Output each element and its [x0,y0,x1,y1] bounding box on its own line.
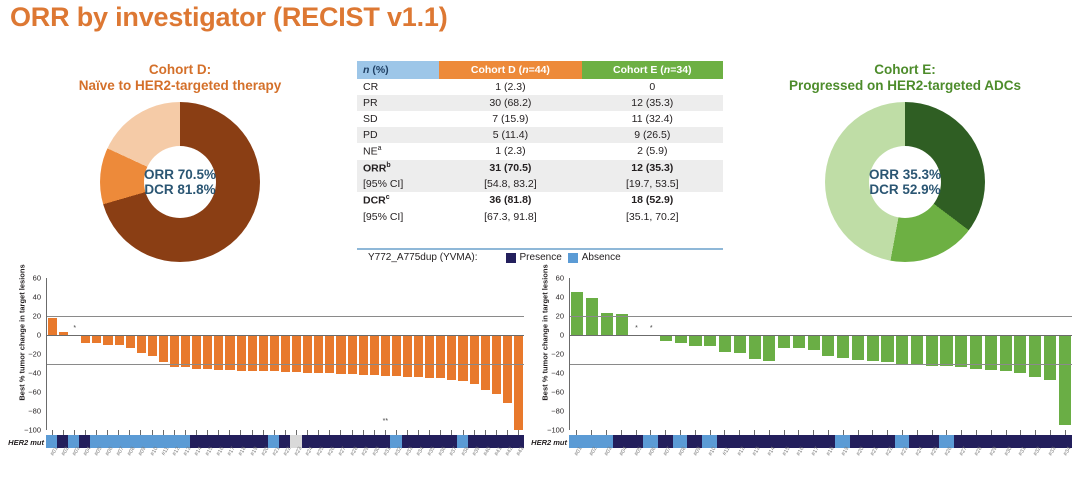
mutation-status-cell [599,435,614,448]
waterfall-bar-slot [369,278,380,430]
mutation-status-cell [909,435,924,448]
waterfall-bar [370,335,379,375]
mutation-status-cell [687,435,702,448]
waterfall-d-mut-label: HER2 mut [4,437,44,448]
absence-swatch-icon [568,253,578,263]
x-axis-label: #06 [643,449,658,473]
waterfall-bar-slot [910,278,925,430]
waterfall-bar-slot [954,278,969,430]
waterfall-bar [303,335,312,373]
waterfall-bar-slot [213,278,224,430]
waterfall-e-mutation-band [569,435,1072,448]
waterfall-bar-slot [939,278,954,430]
mutation-status-cell [732,435,747,448]
waterfall-e-plot-area: ** [569,278,1072,430]
y-axis-tick-label: −20 [28,350,41,359]
table-header-label: n (%) [357,61,439,79]
waterfall-bar [270,335,279,371]
waterfall-bar [359,335,368,375]
waterfall-bar-slot [491,278,502,430]
waterfall-bar-slot [585,278,600,430]
waterfall-bar-slot [614,278,629,430]
waterfall-bar-slot [158,278,169,430]
waterfall-bar [392,335,401,376]
x-axis-label: #32 [1028,449,1043,473]
table-row: PR30 (68.2)12 (35.3) [357,95,723,111]
waterfall-bar [225,335,234,370]
waterfall-bar [403,335,412,377]
mutation-status-cell [835,435,850,448]
table-row: PD5 (11.4)9 (26.5) [357,127,723,143]
mutation-status-cell [954,435,969,448]
mutation-status-cell [628,435,643,448]
waterfall-bar-slot [600,278,615,430]
table-cell-label: SD [357,111,439,127]
x-axis-label: #05 [628,449,643,473]
waterfall-bar-slot [851,278,866,430]
waterfall-bar [514,335,523,430]
waterfall-bar [911,335,923,365]
waterfall-bar-slot [102,278,113,430]
x-axis-label: #01 [46,449,57,473]
x-axis-label: #27 [954,449,969,473]
table-header-cohort-e: Cohort E (n=34) [582,61,723,79]
waterfall-bar-slot [457,278,468,430]
waterfall-bar [348,335,357,374]
legend-item-presence: Presence [506,252,562,263]
y-axis-tick-label: 60 [556,274,564,283]
mutation-status-cell [658,435,673,448]
waterfall-bar [955,335,967,367]
table-cell-label: [95% CI] [357,209,439,225]
x-axis-label: #18 [821,449,836,473]
mutation-status-cell [806,435,821,448]
waterfall-bar [436,335,445,378]
waterfall-bar-slot [659,278,674,430]
y-axis-tick-label: −60 [28,388,41,397]
waterfall-bar-slot [302,278,313,430]
x-axis-label: #12 [732,449,747,473]
waterfall-bar-slot [435,278,446,430]
waterfall-bar-slot [513,278,524,430]
table-row: DCRc36 (81.8)18 (52.9) [357,192,723,209]
reference-line [47,316,524,317]
waterfall-bar [103,335,112,345]
table-cell-label: CR [357,79,439,95]
cohort-e-heading-line1: Cohort E: [745,62,1065,78]
table-row: [95% CI][54.8, 83.2][19.7, 53.5] [357,176,723,192]
waterfall-bar-slot [391,278,402,430]
waterfall-bar [719,335,731,352]
table-cell-cohort-e: 9 (26.5) [582,127,723,143]
waterfall-bar [126,335,135,348]
waterfall-bar [214,335,223,370]
mutation-status-cell [1028,435,1043,448]
mutation-status-cell [124,435,135,448]
waterfall-bar [470,335,479,384]
x-axis-label: #21 [268,449,279,473]
mutation-status-cell [435,435,446,448]
x-axis-label: #17 [806,449,821,473]
x-axis-label: #14 [761,449,776,473]
waterfall-bar [425,335,434,378]
x-axis-label: #31 [379,449,390,473]
waterfall-bar-slot [125,278,136,430]
x-axis-label: #36 [435,449,446,473]
x-axis-label: #30 [998,449,1013,473]
waterfall-bar [1000,335,1012,371]
x-axis-label: #29 [983,449,998,473]
cohort-d-dcr-value: DCR 81.8% [144,182,215,197]
mutation-status-cell [983,435,998,448]
waterfall-bar-slot [777,278,792,430]
waterfall-bar-slot [718,278,733,430]
y-axis-tick-label: −60 [551,388,564,397]
x-axis-label: #02 [584,449,599,473]
waterfall-bar-slot [180,278,191,430]
mutation-status-cell [235,435,246,448]
x-axis-label: #34 [1057,449,1072,473]
table-row: CR1 (2.3)0 [357,79,723,95]
waterfall-d-y-axis-ticks: 6040200−20−40−60−80−100 [18,278,44,430]
waterfall-bar-slot [1057,278,1072,430]
waterfall-bar [571,292,583,335]
bar-annotation-marker: * [650,325,653,332]
table-cell-label: PR [357,95,439,111]
waterfall-chart-cohort-e: Best % tumor change in target lesions 60… [527,278,1076,474]
mutation-status-cell [969,435,984,448]
x-axis-label: #07 [658,449,673,473]
waterfall-bar [837,335,849,358]
waterfall-bar [325,335,334,373]
waterfall-bar [414,335,423,377]
x-axis-label: #13 [747,449,762,473]
mutation-status-cell [213,435,224,448]
mutation-status-cell [939,435,954,448]
mutation-status-cell [1013,435,1028,448]
x-axis-label: #37 [446,449,457,473]
mutation-status-cell [335,435,346,448]
x-axis-label: #23 [290,449,301,473]
mutation-status-cell [791,435,806,448]
x-axis-label: #25 [313,449,324,473]
table-cell-cohort-d: 5 (11.4) [439,127,581,143]
y-axis-tick-label: 40 [556,293,564,302]
waterfall-bar [248,335,257,371]
page-title: ORR by investigator (RECIST v1.1) [10,2,448,33]
mutation-legend-title: Y772_A775dup (YVMA): [368,252,478,263]
waterfall-bar-slot [732,278,747,430]
table-cell-cohort-e: 11 (32.4) [582,111,723,127]
mutation-status-cell [880,435,895,448]
x-axis-label: #16 [213,449,224,473]
waterfall-bar-slot [202,278,213,430]
cohort-e-heading: Cohort E: Progressed on HER2-targeted AD… [745,62,1065,94]
waterfall-bar [793,335,805,348]
waterfall-bar-slot [821,278,836,430]
mutation-status-cell [324,435,335,448]
mutation-status-cell [850,435,865,448]
zero-line [570,335,1072,336]
waterfall-bar-slot [836,278,851,430]
reference-line [47,364,524,365]
waterfall-bar-slot [791,278,806,430]
mutation-status-cell [702,435,717,448]
waterfall-bar [985,335,997,370]
cohort-e-dcr-value: DCR 52.9% [869,182,940,197]
x-axis-label: #07 [113,449,124,473]
waterfall-bar [292,335,301,372]
table-header-cohort-d: Cohort D (n=44) [439,61,581,79]
mutation-status-cell [446,435,457,448]
waterfall-bar-slot [358,278,369,430]
mutation-status-cell [998,435,1013,448]
x-axis-label: #18 [235,449,246,473]
waterfall-bar [503,335,512,403]
waterfall-bar [689,335,701,346]
table-cell-cohort-e: 2 (5.9) [582,143,723,160]
waterfall-bar-slot [469,278,480,430]
waterfall-bar-slot [969,278,984,430]
table-row: [95% CI][67.3, 91.8][35.1, 70.2] [357,209,723,225]
y-axis-tick-label: −80 [551,407,564,416]
y-axis-tick-label: −100 [547,426,564,435]
waterfall-bar-slot [673,278,688,430]
waterfall-bar [92,335,101,343]
waterfall-bar [616,314,628,335]
x-axis-label: #35 [424,449,435,473]
x-axis-label: #05 [90,449,101,473]
table-cell-label: NEa [357,143,439,160]
table-cell-cohort-d: 7 (15.9) [439,111,581,127]
x-axis-label: #40 [479,449,490,473]
waterfall-bar-slot [502,278,513,430]
x-axis-label: #26 [939,449,954,473]
waterfall-bar [148,335,157,356]
waterfall-bar [675,335,687,343]
table-row: SD7 (15.9)11 (32.4) [357,111,723,127]
waterfall-bar-slot [136,278,147,430]
y-axis-tick-label: −100 [24,426,41,435]
x-axis-label: #22 [880,449,895,473]
x-axis-label: #10 [146,449,157,473]
waterfall-bar [170,335,179,367]
mutation-status-cell [424,435,435,448]
waterfall-bar [1044,335,1056,380]
zero-line [47,335,524,336]
waterfall-bar-slot: * [69,278,80,430]
reference-line [570,364,1072,365]
waterfall-bar-slot [424,278,435,430]
x-axis-label: #23 [895,449,910,473]
waterfall-bar-slot: * [644,278,659,430]
table-cell-cohort-e: [19.7, 53.5] [582,176,723,192]
waterfall-bar-slot [280,278,291,430]
waterfall-e-bars: ** [570,278,1072,430]
mutation-status-cell [747,435,762,448]
x-axis-label: #38 [457,449,468,473]
waterfall-bar [181,335,190,367]
mutation-status-cell [135,435,146,448]
table-row: ORRb31 (70.5)12 (35.3) [357,160,723,177]
mutation-status-cell [613,435,628,448]
waterfall-bar-slot [1028,278,1043,430]
waterfall-bar-slot: * [629,278,644,430]
cohort-e-donut-center: ORR 35.3% DCR 52.9% [869,146,941,218]
x-axis-label: #28 [346,449,357,473]
table-bottom-rule [357,248,723,250]
x-axis-label: #24 [302,449,313,473]
waterfall-bar-slot [895,278,910,430]
x-axis-label: #28 [969,449,984,473]
table-cell-cohort-e: 0 [582,79,723,95]
waterfall-e-mut-label: HER2 mut [527,437,567,448]
waterfall-bar-slot [147,278,158,430]
mutation-status-cell [865,435,880,448]
x-axis-label: #11 [157,449,168,473]
cohort-d-donut-center: ORR 70.5% DCR 81.8% [144,146,216,218]
cohort-e-orr-value: ORR 35.3% [869,167,941,182]
x-axis-label: #03 [599,449,614,473]
x-axis-label: #21 [865,449,880,473]
table-cell-label: [95% CI] [357,176,439,192]
waterfall-d-x-labels: #01#02#03#04#05#06#07#08#09#10#11#12#13#… [46,449,524,473]
waterfall-bar-slot [247,278,258,430]
mutation-status-cell [924,435,939,448]
waterfall-bar-slot [58,278,69,430]
waterfall-bar-slot [1043,278,1058,430]
waterfall-bar-slot [446,278,457,430]
waterfall-bar-slot [47,278,58,430]
mutation-status-cell [584,435,599,448]
waterfall-bar [115,335,124,345]
waterfall-bar-slot [91,278,102,430]
y-axis-tick-label: 0 [37,331,41,340]
mutation-status-cell [569,435,584,448]
table-cell-label: DCRc [357,192,439,209]
waterfall-bar [940,335,952,366]
waterfall-bar [896,335,908,364]
waterfall-bar [336,335,345,374]
y-axis-tick-label: −80 [28,407,41,416]
waterfall-bar [48,318,57,335]
x-axis-label: #33 [1043,449,1058,473]
waterfall-bar-slot [688,278,703,430]
waterfall-bar-slot [269,278,280,430]
waterfall-bar-slot [806,278,821,430]
bar-annotation-marker: * [73,325,76,332]
waterfall-bar-slot [324,278,335,430]
waterfall-bar-slot [413,278,424,430]
waterfall-bar [458,335,467,381]
x-axis-label: #13 [179,449,190,473]
mutation-status-cell [643,435,658,448]
x-axis-label: #19 [246,449,257,473]
mutation-status-cell [1057,435,1072,448]
legend-label-absence: Absence [582,252,621,263]
bar-annotation-marker: * [635,325,638,332]
waterfall-bar-slot [258,278,269,430]
waterfall-bar-slot [347,278,358,430]
waterfall-bar [237,335,246,371]
waterfall-bar-slot [402,278,413,430]
x-axis-label: #15 [776,449,791,473]
x-axis-label: #08 [673,449,688,473]
x-axis-label: #24 [909,449,924,473]
x-axis-label: #31 [1013,449,1028,473]
table-cell-cohort-e: 12 (35.3) [582,95,723,111]
waterfall-bar [704,335,716,346]
waterfall-bar-slot [291,278,302,430]
waterfall-d-plot-area: *** [46,278,524,430]
cohort-d-donut-panel: Cohort D: Naïve to HER2-targeted therapy… [20,62,340,262]
waterfall-bar [314,335,323,373]
table-body: CR1 (2.3)0PR30 (68.2)12 (35.3)SD7 (15.9)… [357,79,723,225]
x-axis-label: #10 [702,449,717,473]
x-axis-label: #12 [168,449,179,473]
x-axis-label: #22 [279,449,290,473]
y-axis-tick-label: 40 [33,293,41,302]
table-cell-cohort-d: 30 (68.2) [439,95,581,111]
waterfall-bar-slot [1013,278,1028,430]
y-axis-tick-label: 20 [33,312,41,321]
waterfall-bar [867,335,879,361]
x-axis-label: #20 [850,449,865,473]
waterfall-bar-slot [480,278,491,430]
mutation-status-cell [1043,435,1058,448]
cohort-e-heading-line2: Progressed on HER2-targeted ADCs [745,78,1065,94]
y-axis-tick-label: 60 [33,274,41,283]
table-cell-cohort-d: [67.3, 91.8] [439,209,581,225]
mutation-status-cell [895,435,910,448]
waterfall-bar [926,335,938,366]
bar-annotation-marker: ** [383,418,388,425]
waterfall-bar [734,335,746,353]
waterfall-bar [159,335,168,362]
x-axis-label: #41 [490,449,501,473]
x-axis-label: #43 [513,449,524,473]
x-axis-label: #42 [501,449,512,473]
x-axis-label: #01 [569,449,584,473]
legend-item-absence: Absence [568,252,621,263]
waterfall-bar [881,335,893,362]
x-axis-label: #30 [368,449,379,473]
waterfall-bar [1059,335,1071,425]
waterfall-bar-slot [225,278,236,430]
waterfall-bar-slot [236,278,247,430]
waterfall-bar [822,335,834,356]
waterfall-bar-slot [998,278,1013,430]
waterfall-e-x-labels: #01#02#03#04#05#06#07#08#09#10#11#12#13#… [569,449,1072,473]
reference-line [570,316,1072,317]
waterfall-bar-slot [570,278,585,430]
waterfall-e-y-axis-ticks: 6040200−20−40−60−80−100 [541,278,567,430]
waterfall-bar [808,335,820,350]
waterfall-d-bars: *** [47,278,524,430]
waterfall-bar-slot [191,278,202,430]
waterfall-bar [1014,335,1026,373]
mutation-status-cell [761,435,776,448]
y-axis-tick-label: 0 [560,331,564,340]
waterfall-bar-slot [114,278,125,430]
waterfall-bar [763,335,775,361]
y-axis-tick-label: −20 [551,350,564,359]
waterfall-bar [81,335,90,343]
x-axis-label: #08 [124,449,135,473]
x-axis-label: #26 [324,449,335,473]
x-axis-label: #27 [335,449,346,473]
x-axis-label: #33 [402,449,413,473]
